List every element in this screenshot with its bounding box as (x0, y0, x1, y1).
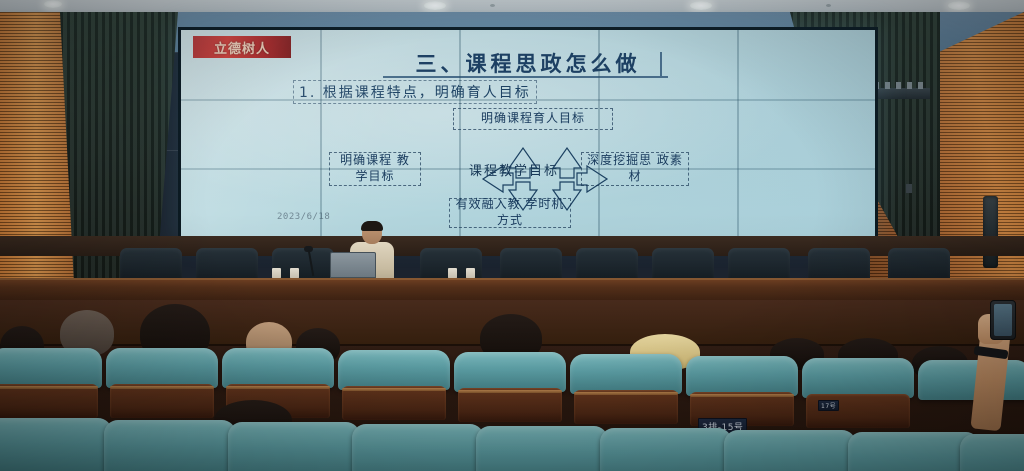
slide-title: 三、课程思政怎么做 (181, 48, 875, 78)
seat-back-panel (110, 384, 214, 418)
auditorium-seat[interactable] (476, 426, 608, 471)
diagram-box-top: 明确课程育人目标 (453, 108, 613, 130)
auditorium-seat[interactable] (600, 428, 732, 471)
smartphone-screen (994, 304, 1012, 336)
auditorium-seat[interactable] (338, 350, 450, 390)
auditorium-seat[interactable] (960, 434, 1024, 471)
auditorium-seat[interactable] (104, 420, 236, 471)
auditorium-seat[interactable] (724, 430, 856, 471)
seat-wood-rim (458, 390, 562, 393)
ceiling-downlight (424, 1, 446, 10)
seat-wood-rim (110, 386, 214, 389)
seat-wood-rim (226, 386, 330, 389)
panel-bezel-vertical (320, 30, 322, 236)
seat-wood-rim (0, 386, 98, 389)
seat-number-plate: 17号 (818, 400, 839, 411)
diagram-box-bottom: 有效融入教 学时机方式 (449, 198, 571, 228)
panel-bezel-vertical (459, 30, 461, 236)
panel-bezel-horizontal (181, 99, 875, 101)
seat-back-panel (0, 384, 98, 418)
auditorium-seat[interactable] (0, 348, 102, 388)
smartphone[interactable] (990, 300, 1016, 340)
auditorium-seat[interactable] (228, 422, 360, 471)
panel-bezel-vertical (737, 30, 739, 236)
auditorium-seat[interactable] (686, 356, 798, 396)
led-video-wall[interactable]: 立德树人 三、课程思政怎么做 1. 根据课程特点，明确育人目标 明确课程育人目标… (178, 27, 878, 239)
ceiling-sensor-dot (826, 4, 831, 7)
ceiling-downlight (690, 1, 712, 10)
auditorium-seat[interactable] (0, 418, 112, 471)
auditorium-seat[interactable] (352, 424, 484, 471)
slide-title-corner-rule (660, 52, 662, 78)
ceiling-sensor-dot (490, 4, 495, 7)
seat-wood-rim (342, 388, 446, 391)
slide-date: 2023/6/18 (277, 212, 330, 222)
seat-back-panel (342, 386, 446, 420)
presenter-hair (361, 221, 383, 231)
auditorium-seat[interactable] (454, 352, 566, 392)
seat-wood-rim (574, 392, 678, 395)
auditorium-seat[interactable] (802, 358, 914, 398)
wall-shelf-equipment (874, 82, 926, 89)
presenter-laptop[interactable] (330, 252, 376, 278)
auditorium-seat[interactable] (222, 348, 334, 388)
seat-back-panel (458, 388, 562, 422)
ceiling-downlight (44, 0, 62, 8)
wall-mounted-fixture (906, 184, 912, 193)
wall-shelf (872, 88, 930, 99)
slide-title-underline (383, 76, 668, 78)
lecture-hall-photo: 立德树人 三、课程思政怎么做 1. 根据课程特点，明确育人目标 明确课程育人目标… (0, 0, 1024, 471)
video-wall-screen: 立德树人 三、课程思政怎么做 1. 根据课程特点，明确育人目标 明确课程育人目标… (181, 30, 875, 236)
ceiling-downlight (948, 1, 970, 10)
auditorium-seat[interactable] (106, 348, 218, 388)
panel-bezel-horizontal (181, 168, 875, 170)
auditorium-seat[interactable] (570, 354, 682, 394)
wall-speaker (983, 196, 998, 268)
panel-bezel-vertical (598, 30, 600, 236)
seat-back-panel (574, 390, 678, 424)
seat-wood-rim (690, 394, 794, 397)
audience-seating-area: 17号 3排-15号 (0, 300, 1024, 471)
auditorium-seat[interactable] (918, 360, 1024, 400)
